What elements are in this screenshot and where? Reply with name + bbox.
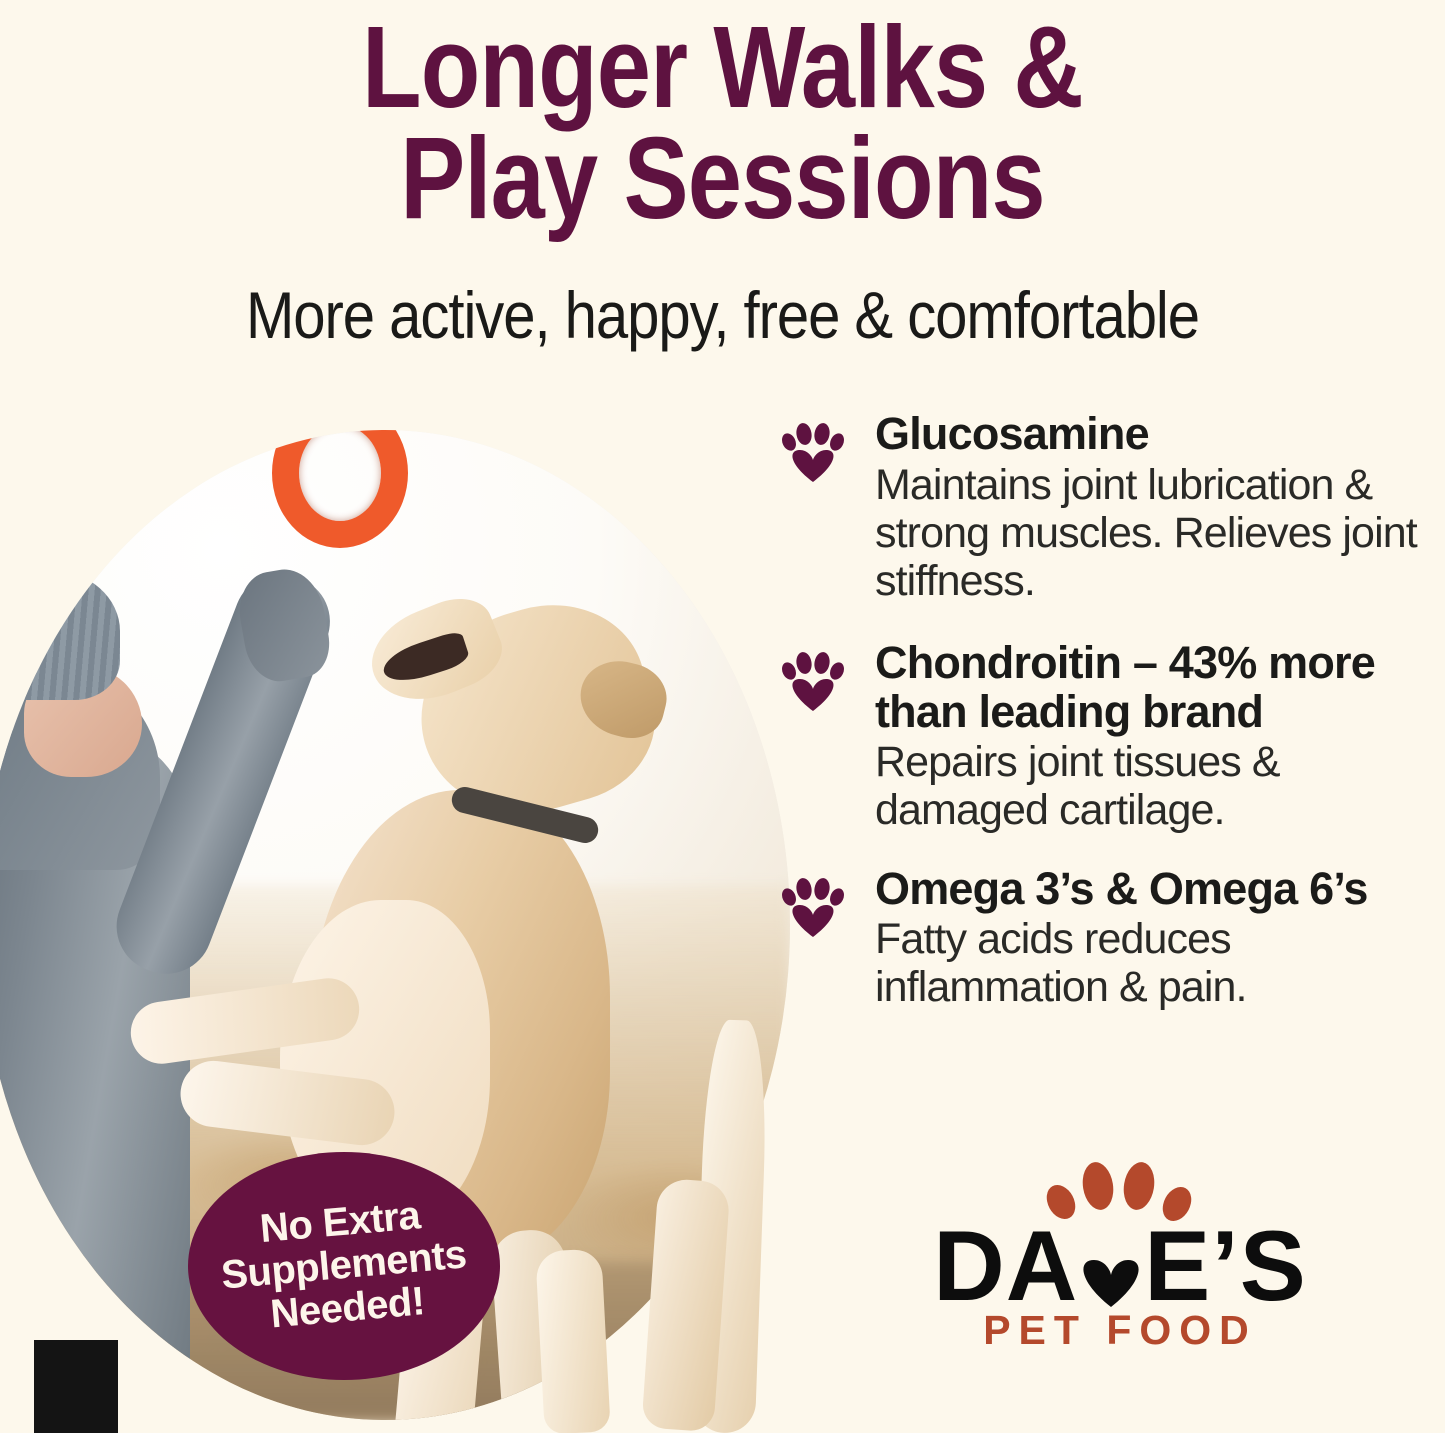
- woman-knit-hat: [0, 570, 120, 700]
- page-title: Longer Walks & Play Sessions: [116, 12, 1330, 235]
- paw-print-icon: [780, 877, 846, 939]
- benefit-description: Fatty acids reduces inflammation & pain.: [875, 915, 1440, 1011]
- benefit-title: Omega 3’s & Omega 6’s: [875, 865, 1440, 914]
- benefit-description: Repairs joint tissues & damaged cartilag…: [875, 738, 1440, 834]
- heart-icon: [1075, 1238, 1147, 1308]
- logo-word-before: DA: [933, 1210, 1078, 1321]
- benefit-item-chondroitin: Chondroitin – 43% more than leading bran…: [780, 639, 1440, 835]
- benefits-list: Glucosamine Maintains joint lubrication …: [780, 410, 1440, 1019]
- logo-tagline: PET FOOD: [895, 1310, 1345, 1351]
- benefit-item-glucosamine: Glucosamine Maintains joint lubrication …: [780, 410, 1440, 605]
- benefit-item-omega: Omega 3’s & Omega 6’s Fatty acids reduce…: [780, 865, 1440, 1012]
- paw-print-icon: [780, 422, 846, 484]
- brand-logo: DAE’S PET FOOD: [895, 1160, 1345, 1390]
- benefit-title: Chondroitin – 43% more than leading bran…: [875, 639, 1440, 736]
- paw-print-icon: [780, 651, 846, 713]
- product-benefits-infographic: Longer Walks & Play Sessions More active…: [0, 0, 1445, 1433]
- benefit-title: Glucosamine: [875, 410, 1440, 459]
- benefit-description: Maintains joint lubrication & strong mus…: [875, 461, 1440, 605]
- headline-line-2: Play Sessions: [116, 123, 1330, 234]
- status-badge: No Extra Supplements Needed!: [188, 1152, 500, 1380]
- subheading: More active, happy, free & comfortable: [87, 282, 1359, 348]
- logo-wordmark: DAE’S: [895, 1216, 1345, 1315]
- badge-text: No Extra Supplements Needed!: [216, 1191, 472, 1341]
- woman-leg: [14, 1370, 100, 1420]
- logo-word-after: E’S: [1144, 1210, 1307, 1321]
